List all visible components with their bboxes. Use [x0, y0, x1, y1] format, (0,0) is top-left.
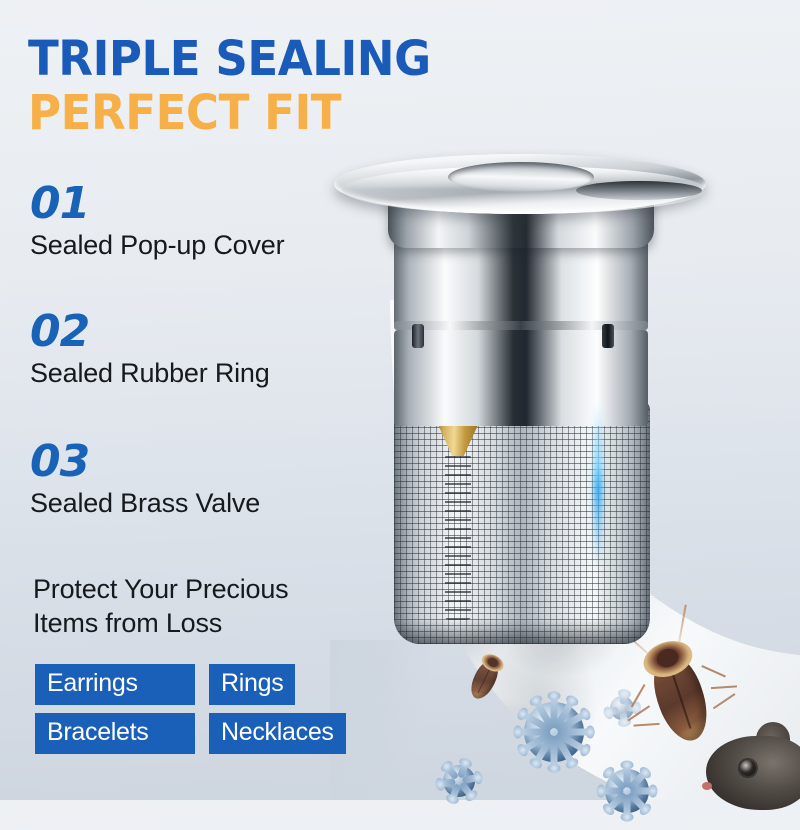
tag-bracelets: Bracelets: [35, 713, 195, 754]
protect-tagline: Protect Your Precious Items from Loss: [33, 572, 288, 640]
headline-line-2: PERFECT FIT: [28, 86, 431, 140]
protect-line-1: Protect Your Precious: [33, 572, 288, 606]
feature-item-01: 01 Sealed Pop-up Cover: [30, 182, 284, 262]
feature-label-02: Sealed Rubber Ring: [30, 356, 270, 390]
item-tag-grid: Earrings Rings Bracelets Necklaces: [35, 664, 380, 762]
tag-row-1: Earrings Rings: [35, 664, 380, 705]
feature-number-02: 02: [30, 310, 270, 354]
feature-label-03: Sealed Brass Valve: [30, 486, 260, 520]
feature-label-01: Sealed Pop-up Cover: [30, 228, 284, 262]
protect-line-2: Items from Loss: [33, 606, 288, 640]
feature-number-03: 03: [30, 440, 260, 484]
tag-row-2: Bracelets Necklaces: [35, 713, 380, 754]
marketing-text-layer: TRIPLE SEALING PERFECT FIT 01 Sealed Pop…: [0, 0, 800, 800]
feature-number-01: 01: [30, 182, 284, 226]
feature-item-02: 02 Sealed Rubber Ring: [30, 310, 270, 390]
tag-earrings: Earrings: [35, 664, 195, 705]
tag-necklaces: Necklaces: [209, 713, 346, 754]
headline-line-1: TRIPLE SEALING: [28, 32, 431, 86]
page-title: TRIPLE SEALING PERFECT FIT: [28, 32, 456, 140]
feature-item-03: 03 Sealed Brass Valve: [30, 440, 260, 520]
tag-rings: Rings: [209, 664, 295, 705]
